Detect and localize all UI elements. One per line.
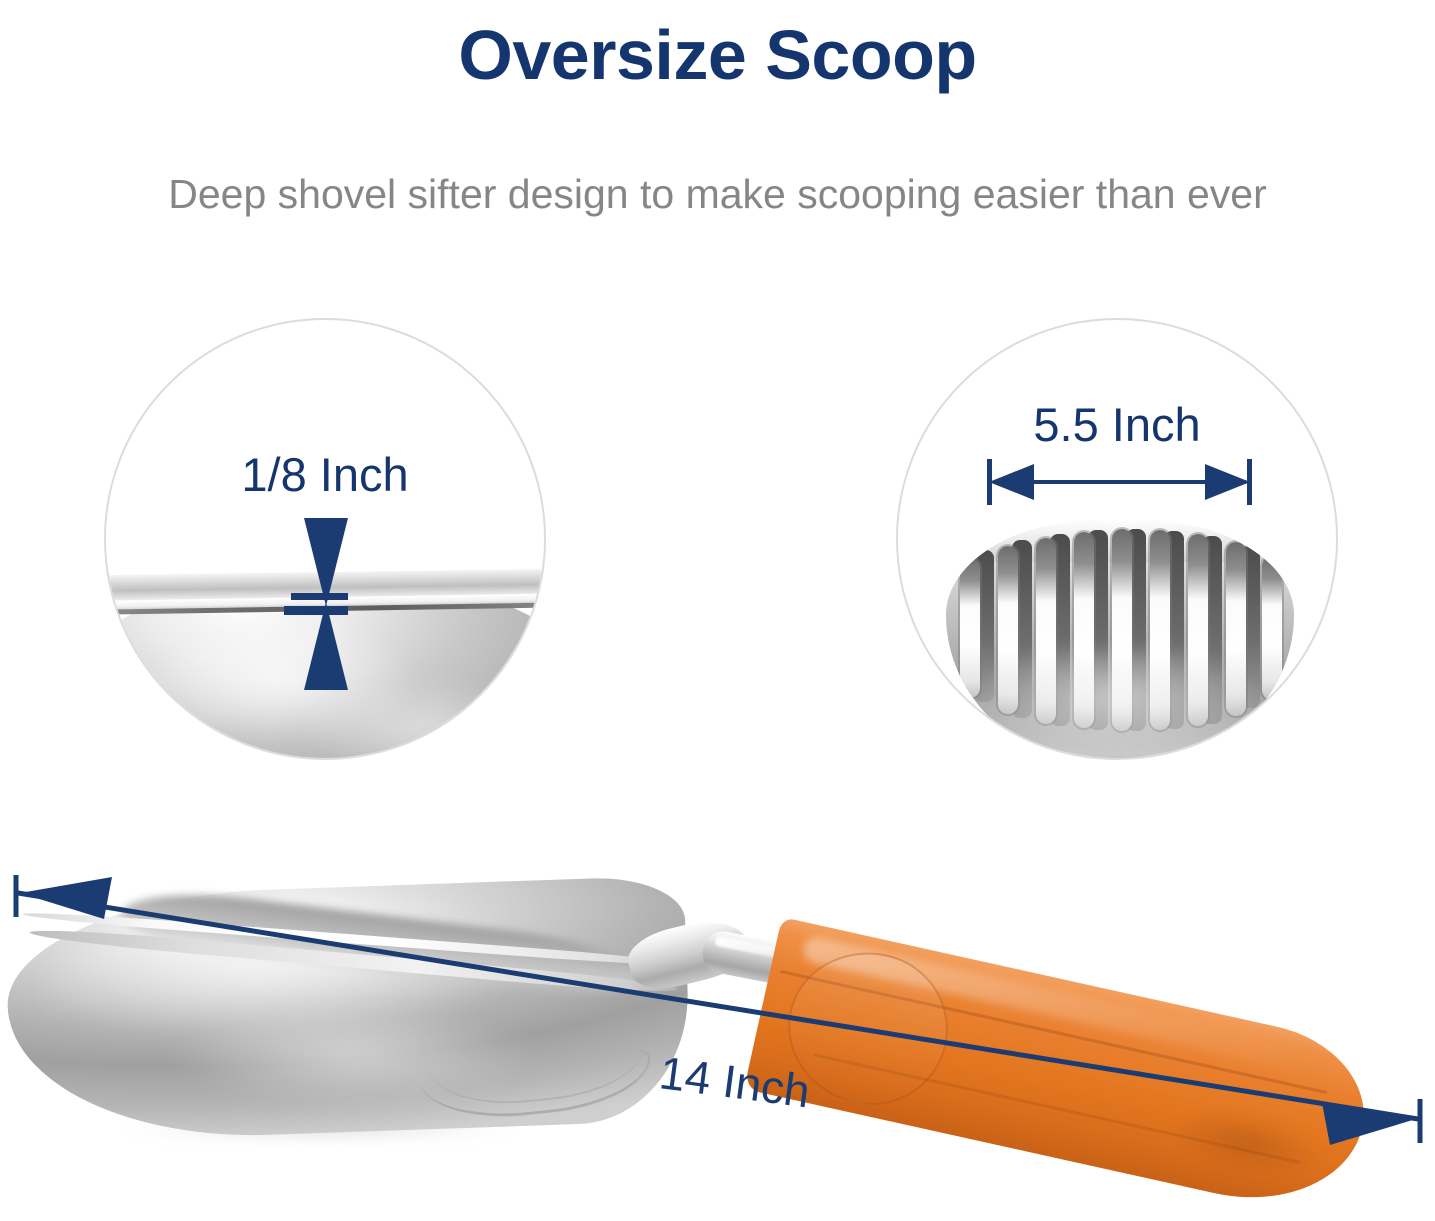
arrow-left-icon [989, 464, 1034, 500]
scoop-handle [782, 917, 1394, 1117]
sifter-body-shape [946, 520, 1294, 760]
product-photo: 14 Inch [0, 855, 1435, 1190]
callout-thickness-label: 1/8 Inch [106, 446, 544, 504]
page-title: Oversize Scoop [0, 12, 1435, 98]
callout-width: 5.5 Inch [896, 318, 1338, 760]
arrow-right-icon [1205, 464, 1250, 500]
sifter-base-shadow [1042, 758, 1202, 760]
handle-body [744, 917, 1380, 1221]
sifter-head-photo [946, 520, 1294, 760]
page-subtitle: Deep shovel sifter design to make scoopi… [0, 168, 1435, 220]
callout-thickness: 1/8 Inch [104, 318, 546, 760]
infographic-canvas: Oversize Scoop Deep shovel sifter design… [0, 0, 1435, 1190]
sifter-sheen [956, 648, 1286, 760]
arrow-up-icon [304, 602, 348, 690]
thickness-tick-upper [291, 593, 348, 600]
handle-tail-shadow [1167, 1100, 1358, 1207]
